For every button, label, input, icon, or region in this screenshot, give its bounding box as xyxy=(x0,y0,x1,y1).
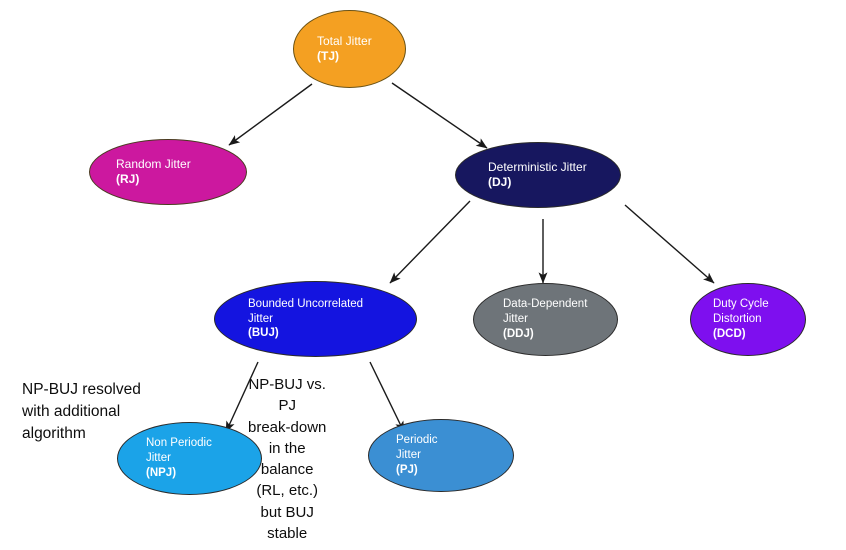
node-deterministic-jitter[interactable]: Deterministic Jitter(DJ) xyxy=(455,142,621,208)
edge-total-jitter-to-random-jitter xyxy=(229,84,312,145)
annotation-line: stable xyxy=(248,523,326,544)
node-label-line: Bounded Uncorrelated xyxy=(248,297,416,312)
annotation-line: break-down xyxy=(248,417,326,438)
annotation-np-buj-vs-pj: NP-BUJ vs.PJbreak-downin thebalance(RL, … xyxy=(248,374,326,544)
node-duty-cycle-distortion[interactable]: Duty CycleDistortion(DCD) xyxy=(690,283,806,356)
node-label-line: (DJ) xyxy=(488,175,620,190)
node-label-line: (NPJ) xyxy=(146,466,261,481)
node-total-jitter[interactable]: Total Jitter(TJ) xyxy=(293,10,406,88)
node-label-line: Non Periodic xyxy=(146,436,261,451)
annotation-np-buj-resolved: NP-BUJ resolvedwith additionalalgorithm xyxy=(22,379,141,445)
node-periodic-jitter[interactable]: PeriodicJitter(PJ) xyxy=(368,419,514,492)
annotation-line: in the xyxy=(248,438,326,459)
node-label-line: (PJ) xyxy=(396,463,513,478)
node-label-line: (DCD) xyxy=(713,327,805,342)
node-label-line: Random Jitter xyxy=(116,157,246,172)
node-data-dependent-jitter[interactable]: Data-DependentJitter(DDJ) xyxy=(473,283,618,356)
annotation-line: balance xyxy=(248,459,326,480)
edge-total-jitter-to-deterministic-jitter xyxy=(392,83,487,148)
edge-buj-to-periodic-jitter xyxy=(370,362,404,432)
node-label-line: Jitter xyxy=(146,451,261,466)
node-label-line: (BUJ) xyxy=(248,326,416,341)
annotation-line: NP-BUJ resolved xyxy=(22,379,141,401)
node-label-line: Distortion xyxy=(713,312,805,327)
node-label-line: Jitter xyxy=(396,448,513,463)
node-random-jitter[interactable]: Random Jitter(RJ) xyxy=(89,139,247,205)
edge-deterministic-jitter-to-buj xyxy=(390,201,470,283)
node-label-line: (TJ) xyxy=(317,49,405,64)
node-label-line: Deterministic Jitter xyxy=(488,160,620,175)
node-bounded-uncorrelated-jitter[interactable]: Bounded UncorrelatedJitter(BUJ) xyxy=(214,281,417,357)
node-label-line: (RJ) xyxy=(116,172,246,187)
node-label-line: (DDJ) xyxy=(503,327,617,342)
node-label-line: Jitter xyxy=(503,312,617,327)
annotation-line: but BUJ xyxy=(248,502,326,523)
annotation-line: PJ xyxy=(248,395,326,416)
annotation-line: with additional xyxy=(22,401,141,423)
node-label-line: Total Jitter xyxy=(317,34,405,49)
annotation-line: (RL, etc.) xyxy=(248,480,326,501)
node-label-line: Duty Cycle xyxy=(713,297,805,312)
node-label-line: Periodic xyxy=(396,433,513,448)
node-label-line: Data-Dependent xyxy=(503,297,617,312)
node-label-line: Jitter xyxy=(248,312,416,327)
edge-deterministic-jitter-to-dcd xyxy=(625,205,714,283)
annotation-line: NP-BUJ vs. xyxy=(248,374,326,395)
diagram-canvas: Total Jitter(TJ)Random Jitter(RJ)Determi… xyxy=(0,0,846,550)
annotation-line: algorithm xyxy=(22,423,141,445)
